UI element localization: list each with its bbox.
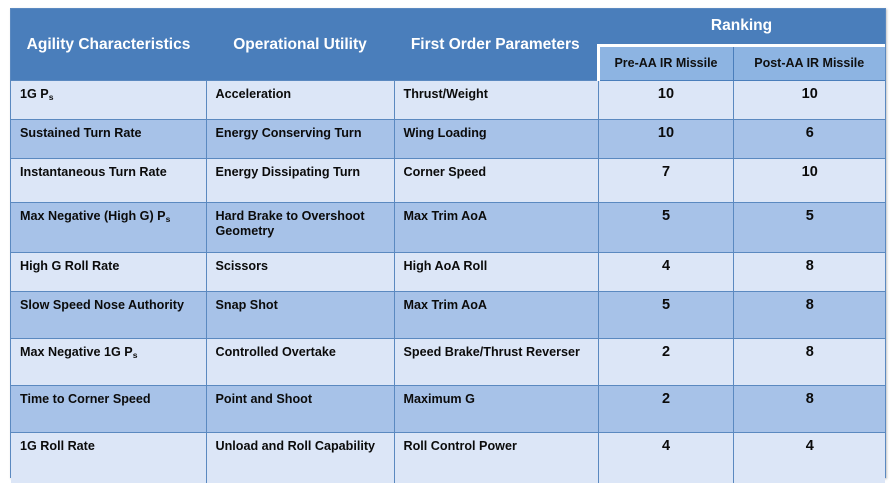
cell-ranking-pre-aa: 7 — [598, 159, 733, 203]
agility-characteristic-label: Max Negative 1G P — [20, 345, 133, 359]
column-header-agility-characteristics: Agility Characteristics — [11, 9, 206, 81]
cell-first-order-parameter: High AoA Roll — [394, 253, 598, 292]
cell-ranking-post-aa: 8 — [733, 386, 885, 433]
cell-first-order-parameter: Roll Control Power — [394, 433, 598, 483]
cell-ranking-pre-aa: 5 — [598, 203, 733, 253]
cell-agility-characteristic: 1G Roll Rate — [11, 433, 206, 483]
cell-agility-characteristic: Time to Corner Speed — [11, 386, 206, 433]
table-row: 1G PsAccelerationThrust/Weight1010 — [11, 81, 885, 120]
cell-agility-characteristic: Sustained Turn Rate — [11, 120, 206, 159]
cell-operational-utility: Snap Shot — [206, 292, 394, 339]
cell-ranking-pre-aa: 5 — [598, 292, 733, 339]
cell-first-order-parameter: Speed Brake/Thrust Reverser — [394, 339, 598, 386]
cell-ranking-post-aa: 5 — [733, 203, 885, 253]
table-header: Agility Characteristics Operational Util… — [11, 9, 885, 81]
cell-operational-utility: Point and Shoot — [206, 386, 394, 433]
cell-operational-utility: Scissors — [206, 253, 394, 292]
table-row: Sustained Turn RateEnergy Conserving Tur… — [11, 120, 885, 159]
cell-ranking-post-aa: 6 — [733, 120, 885, 159]
cell-ranking-pre-aa: 10 — [598, 81, 733, 120]
cell-agility-characteristic: High G Roll Rate — [11, 253, 206, 292]
table-row: 1G Roll RateUnload and Roll CapabilityRo… — [11, 433, 885, 483]
cell-ranking-post-aa: 8 — [733, 292, 885, 339]
cell-agility-characteristic: Max Negative (High G) Ps — [11, 203, 206, 253]
table-grid: Agility Characteristics Operational Util… — [11, 9, 885, 483]
agility-characteristic-subscript: s — [49, 92, 54, 102]
cell-operational-utility: Unload and Roll Capability — [206, 433, 394, 483]
agility-characteristic-label: Time to Corner Speed — [20, 392, 151, 406]
cell-first-order-parameter: Wing Loading — [394, 120, 598, 159]
agility-characteristic-label: Slow Speed Nose Authority — [20, 298, 184, 312]
table-body: 1G PsAccelerationThrust/Weight1010Sustai… — [11, 81, 885, 483]
table-row: Time to Corner SpeedPoint and ShootMaxim… — [11, 386, 885, 433]
table-row: Max Negative 1G PsControlled OvertakeSpe… — [11, 339, 885, 386]
column-header-first-order-parameters: First Order Parameters — [394, 9, 598, 81]
cell-ranking-pre-aa: 4 — [598, 253, 733, 292]
cell-first-order-parameter: Max Trim AoA — [394, 203, 598, 253]
agility-characteristic-label: High G Roll Rate — [20, 259, 119, 273]
cell-ranking-post-aa: 10 — [733, 81, 885, 120]
cell-ranking-pre-aa: 2 — [598, 386, 733, 433]
table-row: Max Negative (High G) PsHard Brake to Ov… — [11, 203, 885, 253]
cell-operational-utility: Hard Brake to Overshoot Geometry — [206, 203, 394, 253]
cell-agility-characteristic: Max Negative 1G Ps — [11, 339, 206, 386]
cell-operational-utility: Energy Dissipating Turn — [206, 159, 394, 203]
cell-first-order-parameter: Corner Speed — [394, 159, 598, 203]
agility-characteristic-label: 1G Roll Rate — [20, 439, 95, 453]
cell-ranking-post-aa: 10 — [733, 159, 885, 203]
table-row: Slow Speed Nose AuthoritySnap ShotMax Tr… — [11, 292, 885, 339]
cell-ranking-pre-aa: 2 — [598, 339, 733, 386]
cell-ranking-post-aa: 8 — [733, 339, 885, 386]
column-header-operational-utility: Operational Utility — [206, 9, 394, 81]
cell-operational-utility: Energy Conserving Turn — [206, 120, 394, 159]
column-subheader-pre-aa-ir-missile: Pre-AA IR Missile — [598, 45, 733, 81]
cell-operational-utility: Acceleration — [206, 81, 394, 120]
cell-ranking-post-aa: 4 — [733, 433, 885, 483]
cell-ranking-pre-aa: 4 — [598, 433, 733, 483]
cell-first-order-parameter: Max Trim AoA — [394, 292, 598, 339]
agility-characteristic-label: 1G P — [20, 87, 49, 101]
agility-ranking-table: Agility Characteristics Operational Util… — [10, 8, 886, 478]
agility-characteristic-subscript: s — [133, 350, 138, 360]
column-subheader-post-aa-ir-missile: Post-AA IR Missile — [733, 45, 885, 81]
table-row: High G Roll RateScissorsHigh AoA Roll48 — [11, 253, 885, 292]
cell-agility-characteristic: 1G Ps — [11, 81, 206, 120]
page-root: Agility Characteristics Operational Util… — [0, 0, 896, 487]
column-header-ranking: Ranking — [598, 9, 885, 45]
cell-ranking-pre-aa: 10 — [598, 120, 733, 159]
agility-characteristic-label: Max Negative (High G) P — [20, 209, 166, 223]
header-row-main: Agility Characteristics Operational Util… — [11, 9, 885, 45]
cell-agility-characteristic: Slow Speed Nose Authority — [11, 292, 206, 339]
agility-characteristic-subscript: s — [166, 214, 171, 224]
table-row: Instantaneous Turn RateEnergy Dissipatin… — [11, 159, 885, 203]
cell-agility-characteristic: Instantaneous Turn Rate — [11, 159, 206, 203]
cell-first-order-parameter: Thrust/Weight — [394, 81, 598, 120]
agility-characteristic-label: Instantaneous Turn Rate — [20, 165, 167, 179]
cell-operational-utility: Controlled Overtake — [206, 339, 394, 386]
cell-ranking-post-aa: 8 — [733, 253, 885, 292]
agility-characteristic-label: Sustained Turn Rate — [20, 126, 142, 140]
cell-first-order-parameter: Maximum G — [394, 386, 598, 433]
